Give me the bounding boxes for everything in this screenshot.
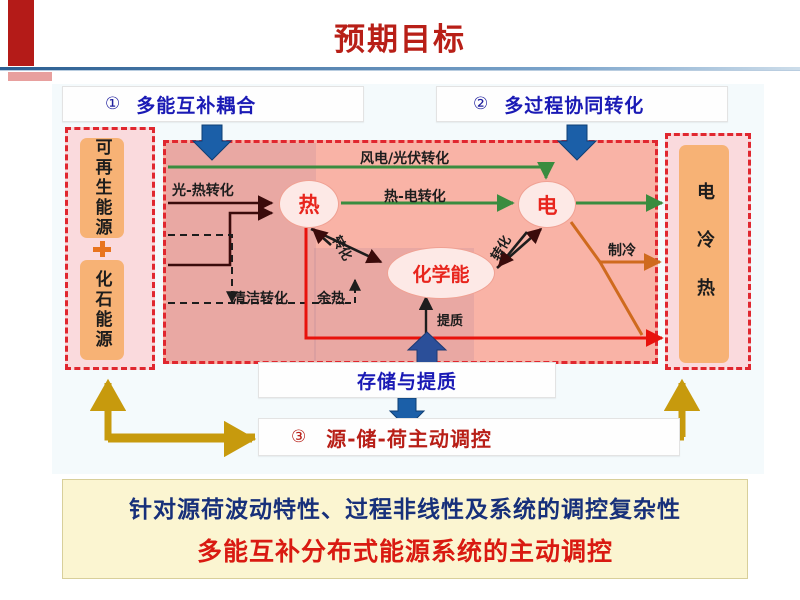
arrow-feedback-left — [108, 383, 255, 439]
arrow-cooling-branch — [571, 222, 660, 335]
arrow-waste-heat — [345, 280, 355, 303]
label-cooling: 制冷 — [608, 240, 636, 260]
summary-banner: 针对源荷波动特性、过程非线性及系统的调控复杂性 多能互补分布式能源系统的主动调控 — [62, 479, 748, 579]
section-chip-three[interactable]: ③ 源-储-荷主动调控 — [258, 418, 680, 456]
section-three-label: 源-储-荷主动调控 — [326, 423, 492, 452]
storage-upgrade-label: 存储与提质 — [357, 367, 457, 394]
arrow-down-blue-one — [193, 125, 231, 160]
label-solar-heat-conversion: 光-热转化 — [172, 180, 234, 200]
arrow-down-blue-two — [558, 125, 596, 160]
node-electricity[interactable]: 电 — [518, 181, 576, 228]
slide-root: 预期目标 ① 多能互补耦合 ② 多过程协同转化 可再生能源 化石能源 电冷热 — [0, 0, 800, 600]
section-three-number: ③ — [291, 429, 306, 446]
node-chemical-energy[interactable]: 化学能 — [387, 247, 495, 299]
label-waste-heat: 余热 — [317, 288, 345, 308]
node-heat[interactable]: 热 — [279, 180, 339, 228]
label-clean-conversion: 清洁转化 — [232, 288, 288, 308]
label-heat-electricity-conversion: 热-电转化 — [384, 186, 446, 206]
label-wind-pv-conversion: 风电/光伏转化 — [360, 148, 449, 168]
arrow-wind-pv — [168, 167, 546, 178]
arrow-fossil-feed — [168, 213, 272, 265]
storage-upgrade-chip[interactable]: 存储与提质 — [258, 362, 556, 398]
summary-line-two: 多能互补分布式能源系统的主动调控 — [197, 532, 613, 568]
label-upgrade: 提质 — [437, 310, 463, 329]
summary-line-one: 针对源荷波动特性、过程非线性及系统的调控复杂性 — [129, 490, 681, 524]
